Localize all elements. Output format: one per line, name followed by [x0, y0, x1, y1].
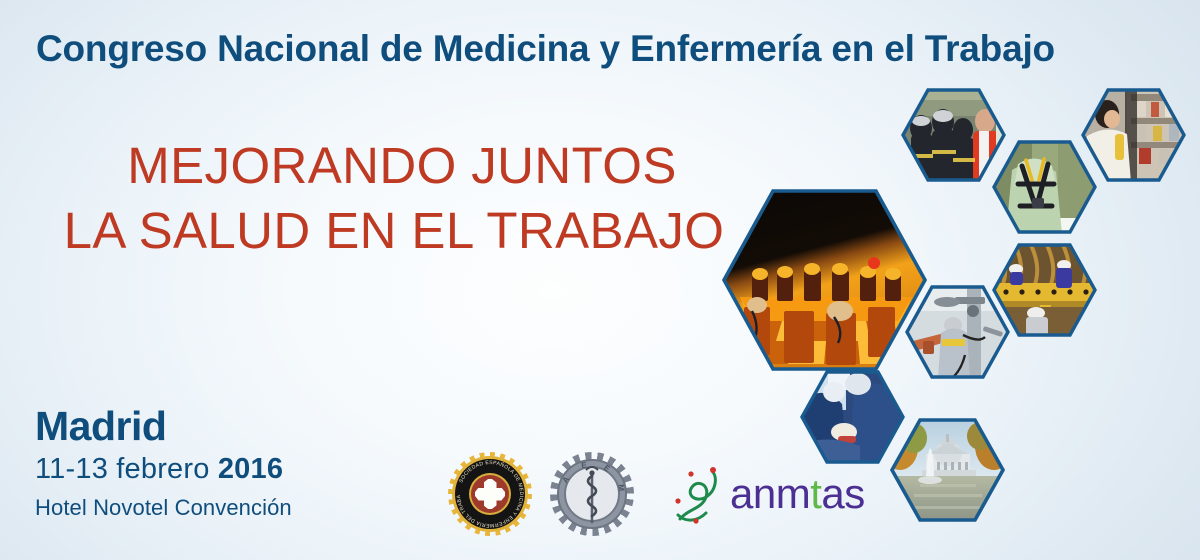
semst-logo[interactable]: SOCIEDAD ESPAÑOLA DE MEDICINA Y ENFERMER…: [448, 452, 532, 536]
hex-madrid-palacio-cristal-retiro-photo: [890, 418, 1005, 522]
slogan-line-1: MEJORANDO JUNTOS: [44, 133, 744, 198]
semst-emblem-icon: SOCIEDAD ESPAÑOLA DE MEDICINA Y ENFERMER…: [448, 452, 532, 536]
aeemt-letters: A E E M T: [550, 452, 626, 498]
anmtas-wordmark: anmtas: [730, 473, 865, 515]
organizer-logos: SOCIEDAD ESPAÑOLA DE MEDICINA Y ENFERMER…: [448, 448, 865, 540]
event-dates-year: 2016: [218, 453, 283, 485]
hex-scaffolding-construction-photo: [992, 243, 1097, 337]
aeemt-logo[interactable]: A E E M T: [550, 452, 634, 536]
anmtas-word-part-t: t: [810, 470, 821, 517]
event-dates: 11-13 febrero 2016: [35, 450, 292, 489]
anmtas-word-part-b: as: [821, 470, 864, 517]
event-venue: Hotel Novotel Convención: [35, 493, 292, 524]
anmtas-word-part-a: anm: [730, 470, 810, 517]
event-info-block: Madrid 11-13 febrero 2016 Hotel Novotel …: [35, 405, 292, 524]
slogan-line-2: LA SALUD EN EL TRABAJO: [44, 198, 744, 263]
event-city: Madrid: [35, 405, 292, 448]
hex-emergency-rescue-team-photo: [901, 88, 1006, 182]
hex-electrical-line-maintenance-photo: [905, 285, 1010, 379]
event-dates-day: 11-13 febrero: [35, 453, 218, 485]
svg-text:A E E M T: A E E M T: [550, 452, 626, 498]
page-title: Congreso Nacional de Medicina y Enfermer…: [36, 30, 1176, 67]
anmtas-mark-icon: [672, 463, 724, 525]
hex-safety-harness-worker-photo: [992, 140, 1097, 234]
hex-laboratory-technician-photo: [1081, 88, 1186, 182]
aeemt-marks: A E E M T: [550, 452, 634, 536]
semst-cross-horizontal: [475, 488, 505, 501]
anmtas-logo[interactable]: anmtas: [672, 463, 865, 525]
aeemt-emblem-icon: A E E M T: [550, 452, 634, 536]
hex-chess-board-strategy-photo: [722, 189, 927, 371]
event-slogan: MEJORANDO JUNTOS LA SALUD EN EL TRABAJO: [44, 133, 744, 264]
